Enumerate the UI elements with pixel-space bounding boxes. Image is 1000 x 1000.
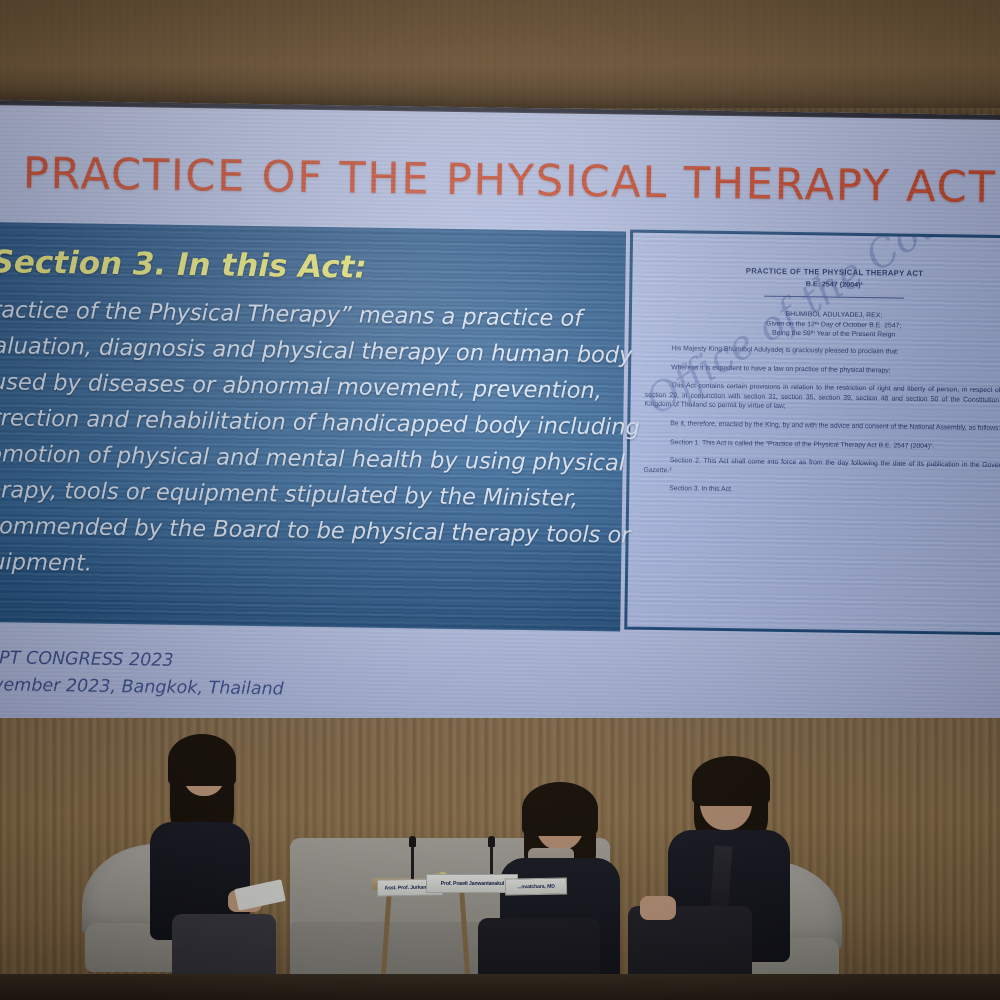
- document-divider: [764, 296, 904, 299]
- document-royal-block: BHUMIBOL ADULYADEJ, REX; Given on the 12…: [646, 309, 1000, 341]
- document-paragraph: His Majesty King Bhumibol Adulyadej is g…: [645, 344, 1000, 359]
- stage-area: Asst. Prof. Jurkan N... Prof. Prawit Jan…: [0, 718, 1000, 1000]
- document-section-1: Section 1. This Act is called the “Pract…: [644, 437, 1000, 452]
- slide-title: PRACTICE OF THE PHYSICAL THERAPY ACT: [23, 149, 1000, 214]
- act-document-image: PRACTICE OF THE PHYSICAL THERAPY ACT B.E…: [624, 230, 1000, 636]
- projection-screen: PRACTICE OF THE PHYSICAL THERAPY ACT Sec…: [0, 100, 1000, 740]
- upper-wall-band: [0, 0, 1000, 108]
- document-section-2: Section 2. This Act shall come into forc…: [644, 456, 1000, 481]
- slide-footer-line: November 2023, Bangkok, Thailand: [0, 672, 284, 704]
- nameplate-right: ...nvatchara, MD: [505, 877, 567, 895]
- slide-body-text: “Practice of the Physical Therapy” means…: [0, 292, 627, 590]
- slide-section-heading: Section 3. In this Act:: [0, 244, 367, 286]
- document-paragraph: This Act contains certain provisions in …: [644, 381, 1000, 415]
- nameplate-center-text: Prof. Prawit Janwantanakul: [440, 881, 504, 887]
- document-subtitle: B.E. 2547 (2004)¹: [646, 277, 1000, 292]
- nameplate-right-text: ...nvatchara, MD: [517, 883, 555, 890]
- stage-floor: [0, 974, 1000, 1000]
- slide-text-panel: Section 3. In this Act: “Practice of the…: [0, 222, 626, 632]
- conference-photo: PRACTICE OF THE PHYSICAL THERAPY ACT Sec…: [0, 0, 1000, 1000]
- document-paragraph: Be it, therefore, enacted by the King, b…: [644, 419, 1000, 434]
- slide-footer: WCPT CONGRESS 2023 November 2023, Bangko…: [0, 645, 284, 704]
- slide-footer-line: WCPT CONGRESS 2023: [0, 645, 284, 677]
- document-section-3: Section 3. In this Act.: [643, 484, 1000, 499]
- document-paragraph: Whereas it is expedient to have a law on…: [645, 362, 1000, 377]
